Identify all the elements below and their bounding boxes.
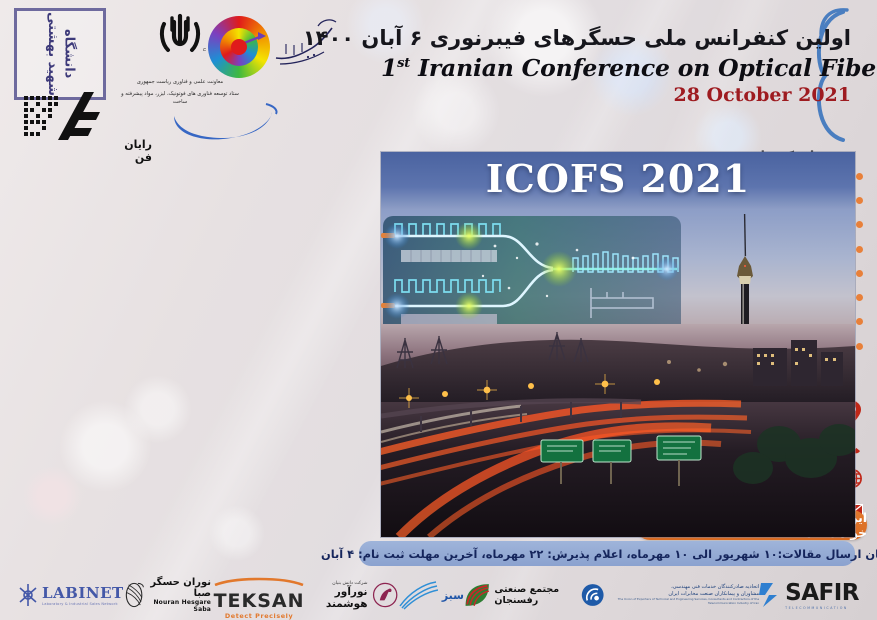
bullet-dot-icon <box>856 318 863 325</box>
bullet-dot-icon <box>856 246 863 253</box>
sabz-swoosh-icon <box>398 580 438 610</box>
labinet-label: LABINET <box>42 584 124 602</box>
telecom-union-label-en: The Union of Exporters of Technical and … <box>609 598 760 606</box>
conference-poster: دانشگاه شهید بهشتی معاونت علمی و فناوری … <box>0 0 877 620</box>
nouran-label-fa: نوران حسگر صبا <box>148 577 211 599</box>
conference-date-english: 28 October 2021 <box>381 84 851 106</box>
optics-photonics-society-logo: Optics and Photonics Society of Iran <box>200 6 278 84</box>
telecom-union-icon <box>581 580 604 610</box>
bullet-dot-icon <box>856 294 863 301</box>
teksan-arc-icon <box>211 577 307 586</box>
safir-label: SAFIR <box>785 580 859 606</box>
conference-title-english: 1st Iranian Conference on Optical Fiber … <box>381 54 851 82</box>
nooravar-label: نورآور هوشمند <box>307 586 367 610</box>
sponsor-teksan: TEKSAN Detect Precisely <box>211 574 307 616</box>
title-ordinal-suffix: st <box>397 56 410 71</box>
icofs-title: ICOFS 2021 <box>381 156 855 201</box>
sponsor-majtame-rafsanjan: مجتمع صنعتی رفسنجان <box>464 574 581 616</box>
kish-mechatronics-logo <box>166 90 286 146</box>
nouran-label-en: Nouran Hesgare Saba <box>148 599 211 613</box>
svg-text:Optics and Photonics Society o: Optics and Photonics Society of Iran <box>200 6 208 51</box>
tehran-night-cityscape <box>381 324 855 537</box>
main-photo-panel: ICOFS 2021 <box>381 152 855 537</box>
conference-title-persian: اولین کنفرانس ملی حسگرهای فیبرنوری ۶ آبا… <box>381 26 851 51</box>
sponsor-telecom-union: اتحادیه صادرکنندگان خدمات فنی مهندسی، مش… <box>581 574 759 616</box>
sbu-logo-label: دانشگاه شهید بهشتی <box>44 11 77 97</box>
sponsor-labinet: LABINET Laboratory & Industrial Sales Ne… <box>18 574 124 616</box>
sponsor-sabz: سبز <box>398 574 464 616</box>
deadline-bar: زمان ارسال مقالات:۱۰ شهریور الی ۱۰ مهرما… <box>359 541 855 566</box>
sponsor-nooravar-hooshmand: شرکت دانش بنیان نورآور هوشمند <box>307 574 398 616</box>
title-english-rest: Iranian Conference on Optical Fiber Sens… <box>418 54 877 82</box>
title-ordinal-number: 1 <box>381 54 397 82</box>
nouran-coil-icon <box>124 578 144 612</box>
teksan-label: TEKSAN <box>211 590 307 612</box>
rayan-fan-logo: رایان فن <box>22 90 152 152</box>
telecom-union-label-1: اتحادیه صادرکنندگان خدمات فنی مهندسی، <box>609 584 760 591</box>
header-title-block: اولین کنفرانس ملی حسگرهای فیبرنوری ۶ آبا… <box>381 26 851 106</box>
teksan-sublabel: Detect Precisely <box>211 612 307 620</box>
safir-sublabel: TELECOMMUNICATION <box>785 606 859 610</box>
sponsor-nouran-hesgare-saba: نوران حسگر صبا Nouran Hesgare Saba <box>124 574 211 616</box>
top-logo-row: دانشگاه شهید بهشتی <box>14 8 106 100</box>
rafsanjan-label: مجتمع صنعتی رفسنجان <box>494 584 581 606</box>
rayan-fan-label: رایان فن <box>110 138 152 164</box>
safir-mark-icon <box>759 581 781 609</box>
sponsor-strip: LABINET Laboratory & Industrial Sales Ne… <box>0 570 877 620</box>
sabz-label: سبز <box>442 589 464 602</box>
deadline-text: زمان ارسال مقالات:۱۰ شهریور الی ۱۰ مهرما… <box>321 547 877 561</box>
bullet-dot-icon <box>856 343 863 350</box>
bullet-dot-icon <box>856 270 863 277</box>
nooravar-circle-icon <box>372 578 398 612</box>
bullet-dot-icon <box>856 221 863 228</box>
bullet-dot-icon <box>856 173 863 180</box>
sponsor-safir: SAFIR TELECOMMUNICATION <box>759 574 859 616</box>
bullet-dot-icon <box>856 197 863 204</box>
labinet-mark-icon <box>18 582 38 608</box>
labinet-sublabel: Laboratory & Industrial Sales Network <box>42 602 124 606</box>
rafsanjan-mark-icon <box>464 579 490 611</box>
shahid-beheshti-university-logo: دانشگاه شهید بهشتی <box>14 8 106 100</box>
